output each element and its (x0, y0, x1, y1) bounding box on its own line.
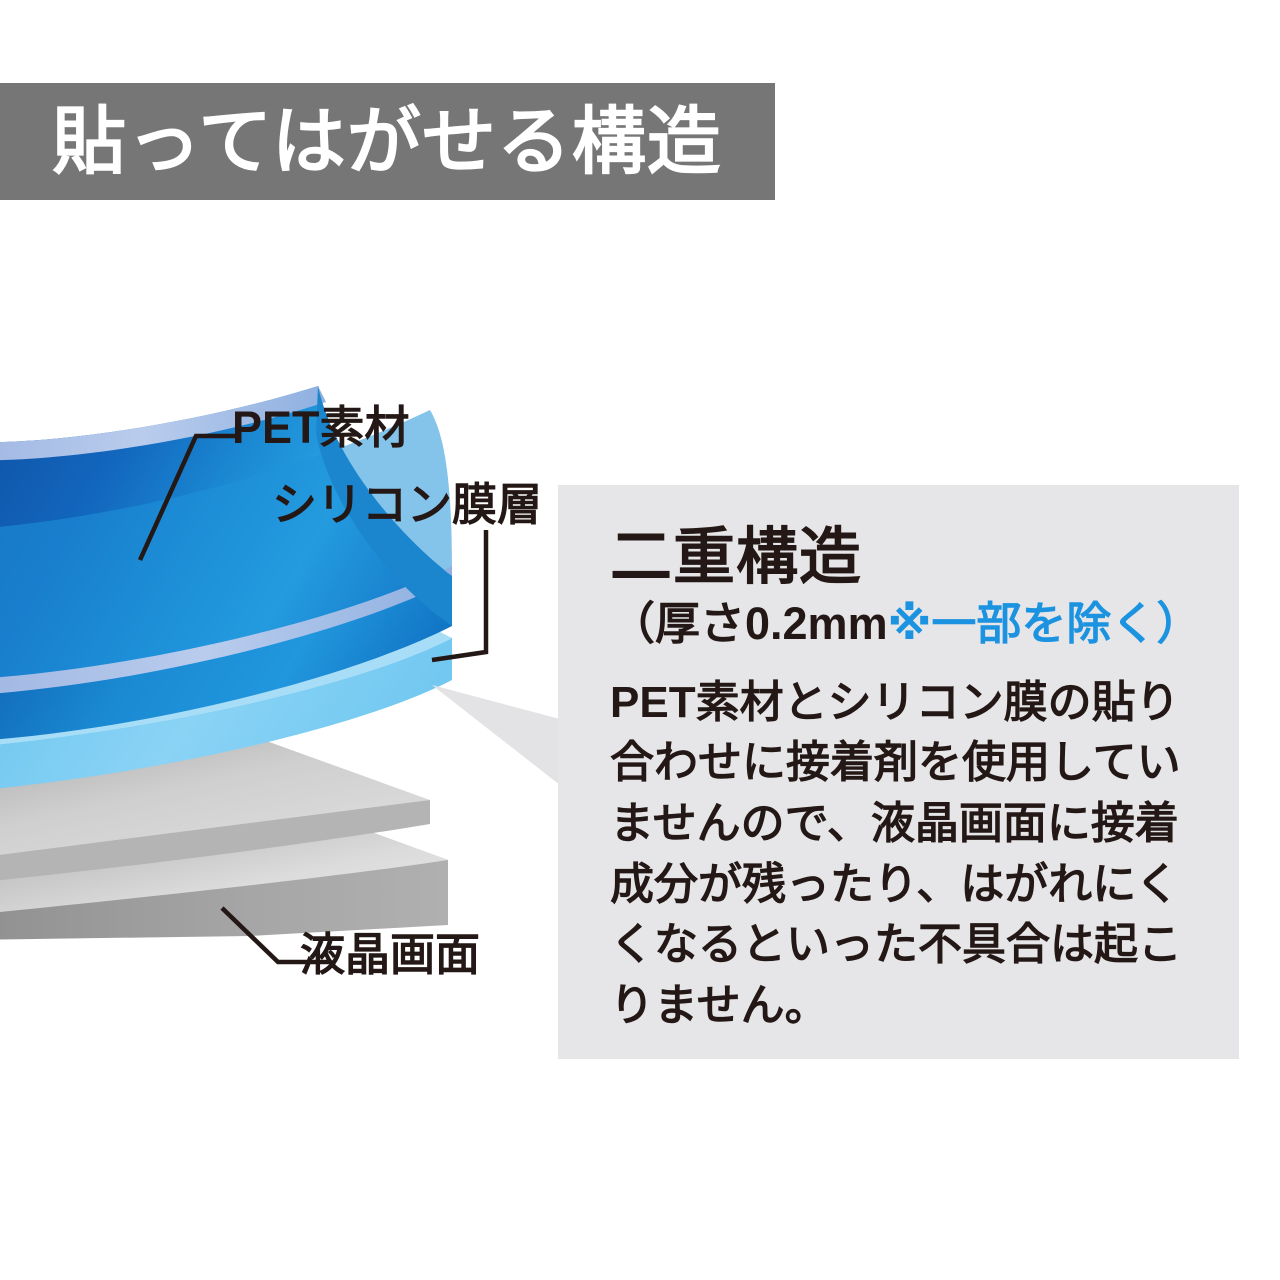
header-banner-title: 貼ってはがせる構造 (0, 105, 722, 179)
info-panel-subheading-thickness: （厚さ0.2mm (610, 598, 888, 649)
info-panel: 二重構造 （厚さ0.2mm※一部を除く） PET素材とシリコン膜の貼り合わせに接… (558, 485, 1239, 1059)
info-panel-subheading-note: ※一部を除く） (888, 598, 1202, 649)
info-panel-body-text: PET素材とシリコン膜の貼り合わせに接着剤を使用していませんので、液晶画面に接着… (610, 673, 1199, 1037)
label-silicon-film: シリコン膜層 (272, 482, 542, 527)
label-lcd-screen: 液晶画面 (300, 932, 480, 977)
layer-structure-illustration (0, 380, 620, 1020)
info-panel-subheading: （厚さ0.2mm※一部を除く） (610, 599, 1199, 649)
label-pet-material: PET素材 (232, 405, 410, 450)
header-banner: 貼ってはがせる構造 (0, 83, 775, 200)
infographic-canvas: 貼ってはがせる構造 (0, 0, 1280, 1280)
info-panel-heading: 二重構造 (610, 527, 1199, 589)
